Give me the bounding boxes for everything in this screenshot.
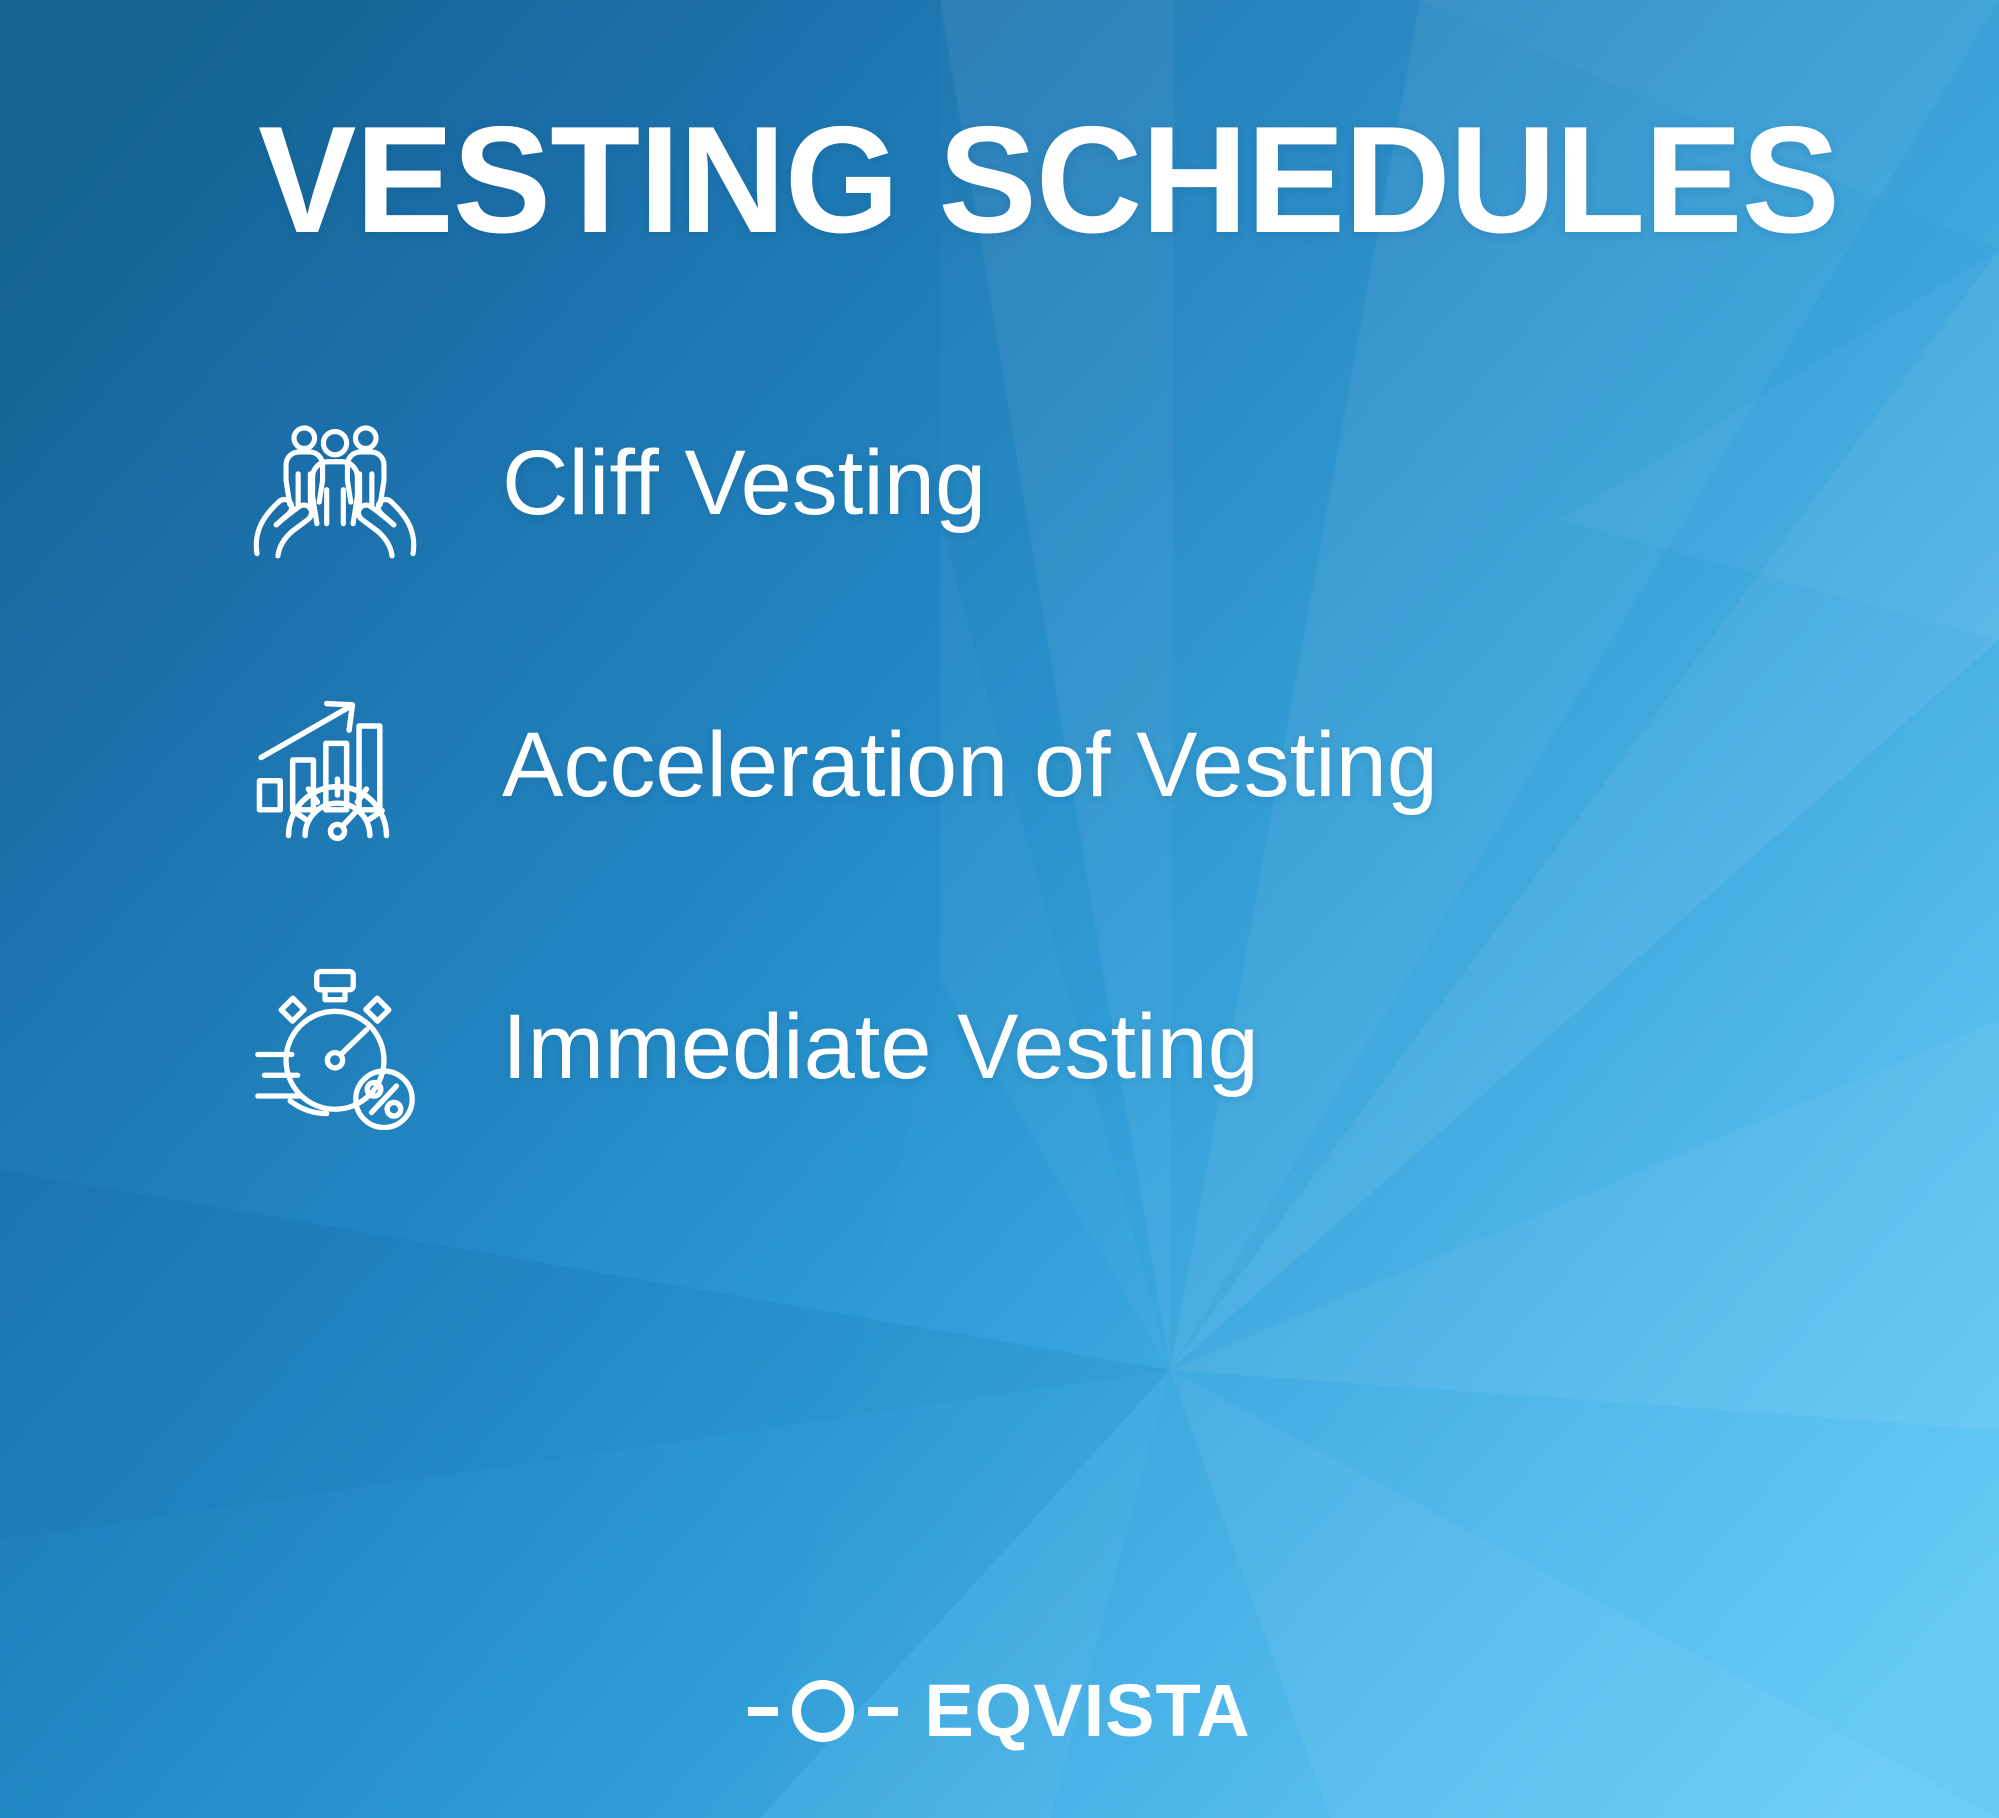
poster-content: VESTING SCHEDULES — [0, 0, 1999, 1818]
poster-canvas: VESTING SCHEDULES — [0, 0, 1999, 1818]
list-item[interactable]: Acceleration of Vesting — [252, 624, 1999, 906]
list-item-label: Cliff Vesting — [502, 435, 986, 532]
dash-circle-dash-logo — [748, 1680, 898, 1742]
brand-footer[interactable]: EQVISTA — [0, 1674, 1999, 1748]
list-item[interactable]: Cliff Vesting — [252, 342, 1999, 624]
list-item[interactable]: Immediate Vesting — [252, 906, 1999, 1188]
title-block: VESTING SCHEDULES — [0, 104, 1999, 256]
bar-chart-gauge-growth-icon — [252, 682, 418, 848]
page-title: VESTING SCHEDULES — [258, 104, 1830, 256]
vesting-schedule-list: Cliff Vesting — [0, 342, 1999, 1188]
people-in-hands-icon — [252, 400, 418, 566]
logo-dash-right — [868, 1707, 898, 1716]
stopwatch-percent-icon — [252, 964, 418, 1130]
logo-dash-left — [748, 1707, 778, 1716]
list-item-label: Acceleration of Vesting — [502, 717, 1438, 814]
brand-name: EQVISTA — [924, 1674, 1250, 1748]
logo-circle — [792, 1680, 854, 1742]
list-item-label: Immediate Vesting — [502, 999, 1259, 1096]
